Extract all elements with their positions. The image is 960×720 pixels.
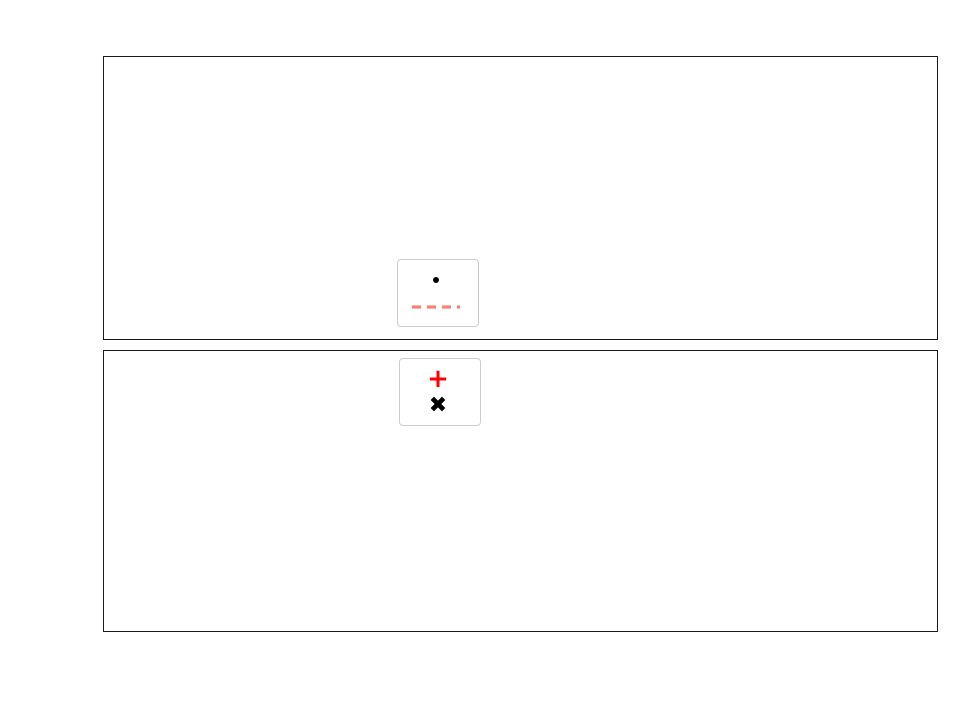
legend-item-predicted-stars: ✖ (410, 392, 470, 419)
top-panel-legend (397, 259, 479, 327)
legend-item-measurements (408, 266, 468, 293)
legend-item-matched-stars: + (410, 365, 470, 392)
bottom-panel-plot-area (104, 351, 937, 631)
dashed-line-marker-icon (408, 302, 464, 312)
top-panel-plot-area (104, 57, 937, 339)
dot-marker-icon (408, 277, 464, 283)
bottom-panel-ytick-labels (20, 0, 94, 720)
figure-root: + ✖ (0, 0, 960, 720)
bottom-panel-legend: + ✖ (399, 358, 481, 426)
top-panel-axes (103, 56, 938, 340)
bottom-panel-axes (103, 350, 938, 632)
legend-item-threshold (408, 293, 468, 320)
plus-marker-icon: + (410, 366, 466, 392)
cross-marker-icon: ✖ (410, 395, 466, 417)
